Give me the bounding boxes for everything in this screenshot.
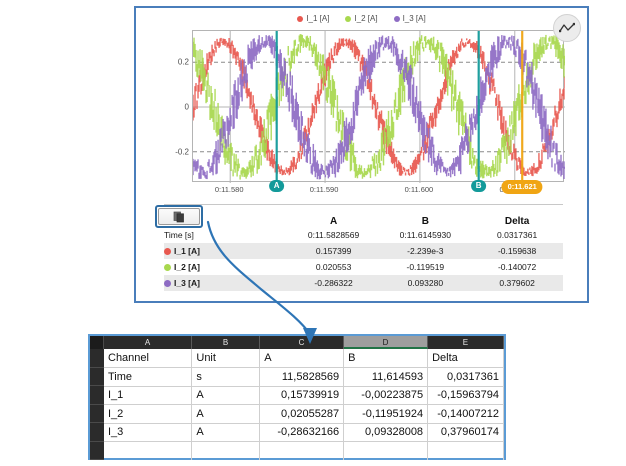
cursor-values-table: A B Delta Time [s]0:11.58285690:11.61459… [164, 204, 563, 291]
chart-area[interactable]: I_1 [A]I_2 [A]I_3 [A] 0.20-0.2 0:11.5800… [136, 8, 587, 204]
spreadsheet-column-header-c[interactable]: C [260, 336, 344, 349]
cursor-row-label: I_1 [A] [174, 246, 200, 256]
legend-color-dot [297, 16, 303, 22]
spreadsheet-column-header-b[interactable]: B [192, 336, 260, 349]
spreadsheet-row-header[interactable] [90, 386, 104, 405]
cursor-table-row[interactable]: I_1 [A]0.157399-2.239e-3-0.159638 [164, 243, 563, 259]
legend-entry-3[interactable]: I_3 [A] [394, 14, 426, 23]
legend-entry-1[interactable]: I_1 [A] [297, 14, 329, 23]
spreadsheet-cell[interactable]: A [192, 386, 260, 405]
spreadsheet-cell[interactable]: A [192, 423, 260, 442]
cursor-value-a: 0:11.5828569 [288, 227, 380, 243]
copy-to-clipboard-button[interactable] [158, 208, 200, 225]
screenshot-root: I_1 [A]I_2 [A]I_3 [A] 0.20-0.2 0:11.5800… [0, 0, 626, 466]
spreadsheet-cell[interactable]: 11,5828569 [260, 368, 344, 387]
spreadsheet-cell[interactable]: s [192, 368, 260, 387]
cursor-value-a: 0.020553 [288, 259, 380, 275]
cursor-value-delta: 0.379602 [471, 275, 563, 291]
spreadsheet-cell[interactable]: A [192, 405, 260, 424]
cursor-value-a: -0.286322 [288, 275, 380, 291]
cursor-row-label: I_3 [A] [174, 278, 200, 288]
cursor-row-label-cell: I_3 [A] [164, 275, 288, 291]
channel-color-dot [164, 248, 171, 255]
spreadsheet-row[interactable]: Times11,582856911,6145930,0317361 [104, 368, 504, 387]
x-axis-tick: 0:11.600 [405, 185, 434, 194]
cursor-col-delta: Delta [471, 205, 563, 227]
spreadsheet-tbody: ChannelUnitABDeltaTimes11,582856911,6145… [104, 349, 504, 460]
x-axis-tick: 0:11.590 [310, 185, 339, 194]
spreadsheet-cell[interactable] [344, 442, 428, 461]
cursor-col-b: B [379, 205, 471, 227]
spreadsheet-row-header[interactable] [90, 442, 104, 461]
legend-label: I_1 [A] [306, 14, 329, 23]
cursor-value-b: 0:11.6145930 [379, 227, 471, 243]
cursor-row-label: I_2 [A] [174, 262, 200, 272]
spreadsheet-row[interactable]: I_2A0,02055287-0,11951924-0,14007212 [104, 405, 504, 424]
y-axis-tick: 0 [185, 103, 189, 112]
x-axis-tick: 0:11.580 [215, 185, 244, 194]
spreadsheet-column-header-d[interactable]: D [344, 336, 428, 349]
cursor-value-b: -0.119519 [379, 259, 471, 275]
spreadsheet-row-header[interactable] [90, 405, 104, 424]
cursor-badge-b[interactable]: B [471, 180, 487, 192]
spreadsheet-column-headers[interactable]: ABCDE [90, 336, 504, 349]
cursor-table-row[interactable]: I_3 [A]-0.2863220.0932800.379602 [164, 275, 563, 291]
spreadsheet-grid[interactable]: ChannelUnitABDeltaTimes11,582856911,6145… [104, 349, 504, 460]
spreadsheet-row[interactable]: ChannelUnitABDelta [104, 349, 504, 368]
plot-area[interactable]: 0.20-0.2 [192, 30, 564, 182]
spreadsheet-cell[interactable]: 0,0317361 [428, 368, 504, 387]
spreadsheet-cell[interactable]: -0,14007212 [428, 405, 504, 424]
cursor-table-row[interactable]: Time [s]0:11.58285690:11.61459300.031736… [164, 227, 563, 243]
spreadsheet-cell[interactable]: -0,15963794 [428, 386, 504, 405]
cursor-value-delta: -0.140072 [471, 259, 563, 275]
spreadsheet-table: ChannelUnitABDeltaTimes11,582856911,6145… [104, 349, 504, 460]
spreadsheet-cell[interactable]: Unit [192, 349, 260, 368]
spreadsheet-row-header[interactable] [90, 349, 104, 368]
spreadsheet-cell[interactable]: Time [104, 368, 192, 387]
spreadsheet-cell[interactable]: 0,09328008 [344, 423, 428, 442]
cursor-value-b: -2.239e-3 [379, 243, 471, 259]
spreadsheet-cell[interactable]: Channel [104, 349, 192, 368]
spreadsheet-cell[interactable]: -0,11951924 [344, 405, 428, 424]
cursor-table-row[interactable]: I_2 [A]0.020553-0.119519-0.140072 [164, 259, 563, 275]
y-axis-tick: 0.2 [178, 58, 189, 67]
spreadsheet-cell[interactable]: 0,02055287 [260, 405, 344, 424]
spreadsheet-cell[interactable]: I_3 [104, 423, 192, 442]
cursor-col-a: A [288, 205, 380, 227]
spreadsheet-cell[interactable]: A [260, 349, 344, 368]
spreadsheet-cell[interactable]: 11,614593 [344, 368, 428, 387]
spreadsheet-cell[interactable]: B [344, 349, 428, 368]
spreadsheet-cell[interactable] [428, 442, 504, 461]
line-chart-icon-button[interactable] [553, 14, 581, 42]
cursor-value-delta: -0.159638 [471, 243, 563, 259]
spreadsheet-panel[interactable]: ABCDE ChannelUnitABDeltaTimes11,58285691… [88, 334, 506, 460]
cursor-time-badge[interactable]: 0:11.621 [502, 180, 543, 194]
y-axis-tick: -0.2 [175, 147, 189, 156]
spreadsheet-cell[interactable]: -0,28632166 [260, 423, 344, 442]
spreadsheet-select-all-corner[interactable] [90, 336, 104, 349]
spreadsheet-row-header[interactable] [90, 368, 104, 387]
spreadsheet-cell[interactable]: 0,15739919 [260, 386, 344, 405]
cursor-badge-a[interactable]: A [269, 180, 285, 192]
legend-entry-2[interactable]: I_2 [A] [345, 14, 377, 23]
spreadsheet-cell[interactable]: 0,37960174 [428, 423, 504, 442]
channel-color-dot [164, 264, 171, 271]
scope-panel: I_1 [A]I_2 [A]I_3 [A] 0.20-0.2 0:11.5800… [134, 6, 589, 303]
spreadsheet-row[interactable] [104, 442, 504, 461]
spreadsheet-body: ChannelUnitABDeltaTimes11,582856911,6145… [90, 349, 504, 460]
legend-color-dot [394, 16, 400, 22]
cursor-value-b: 0.093280 [379, 275, 471, 291]
spreadsheet-row-gutter[interactable] [90, 349, 104, 460]
cursor-table-header-row: A B Delta [164, 205, 563, 227]
legend-label: I_3 [A] [403, 14, 426, 23]
spreadsheet-cell[interactable] [104, 442, 192, 461]
spreadsheet-cell[interactable] [260, 442, 344, 461]
channel-color-dot [164, 280, 171, 287]
cursor-row-label: Time [s] [164, 230, 194, 240]
spreadsheet-cell[interactable]: I_1 [104, 386, 192, 405]
copy-icon [173, 211, 185, 223]
waveform-svg [193, 31, 565, 183]
cursor-value-a: 0.157399 [288, 243, 380, 259]
spreadsheet-column-header-e[interactable]: E [428, 336, 504, 349]
cursor-row-label-cell: Time [s] [164, 227, 288, 243]
spreadsheet-cell[interactable]: I_2 [104, 405, 192, 424]
spreadsheet-cell[interactable]: Delta [428, 349, 504, 368]
cursor-row-label-cell: I_2 [A] [164, 259, 288, 275]
line-chart-icon [559, 22, 575, 34]
cursor-table-body: Time [s]0:11.58285690:11.61459300.031736… [164, 227, 563, 291]
spreadsheet-row-header[interactable] [90, 423, 104, 442]
cursor-value-delta: 0.0317361 [471, 227, 563, 243]
spreadsheet-cell[interactable] [192, 442, 260, 461]
spreadsheet-row[interactable]: I_3A-0,286321660,093280080,37960174 [104, 423, 504, 442]
spreadsheet-row[interactable]: I_1A0,15739919-0,00223875-0,15963794 [104, 386, 504, 405]
spreadsheet-column-header-a[interactable]: A [104, 336, 192, 349]
cursor-row-label-cell: I_1 [A] [164, 243, 288, 259]
cursor-table-element: A B Delta Time [s]0:11.58285690:11.61459… [164, 205, 563, 291]
legend-label: I_2 [A] [354, 14, 377, 23]
spreadsheet-cell[interactable]: -0,00223875 [344, 386, 428, 405]
chart-legend: I_1 [A]I_2 [A]I_3 [A] [136, 14, 587, 23]
legend-color-dot [345, 16, 351, 22]
